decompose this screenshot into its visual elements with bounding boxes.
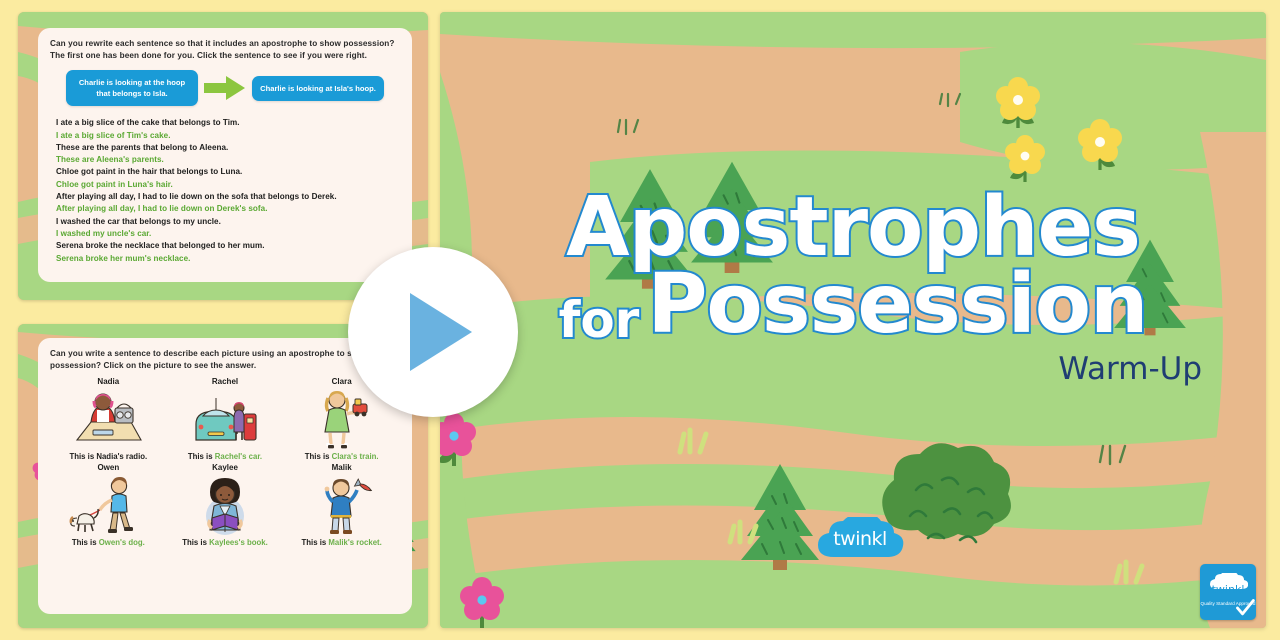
play-triangle-icon xyxy=(410,293,472,371)
twinkl-logo: twinkl xyxy=(814,517,906,563)
example-after-box[interactable]: Charlie is looking at Isla's hoop. xyxy=(252,76,384,101)
sentence-original[interactable]: I ate a big slice of the cake that belon… xyxy=(56,117,400,129)
right-arrow-icon xyxy=(204,75,246,101)
boy-walking-dog-icon[interactable] xyxy=(69,474,147,536)
item-caption: This is Rachel's car. xyxy=(188,452,262,461)
quality-approved-badge: twinkl Quality Standard Approved xyxy=(1200,564,1256,620)
girl-with-train-icon[interactable] xyxy=(303,388,381,450)
car-at-petrol-pump-icon[interactable] xyxy=(186,388,264,450)
girl-with-radio-icon[interactable] xyxy=(69,388,147,450)
sentence-answer[interactable]: Chloe got paint in Luna's hair. xyxy=(56,179,400,191)
item-caption: This is Clara's train. xyxy=(305,452,379,461)
item-caption: This is Nadia's radio. xyxy=(69,452,147,461)
checkmark-icon xyxy=(1235,598,1255,618)
item-name: Nadia xyxy=(97,377,119,386)
play-button[interactable] xyxy=(348,247,518,417)
sentence-answer[interactable]: After playing all day, I had to lie down… xyxy=(56,203,400,215)
item-name: Malik xyxy=(332,463,352,472)
grid-item[interactable]: Kaylee xyxy=(167,463,284,547)
sentence-original[interactable]: After playing all day, I had to lie down… xyxy=(56,191,400,203)
grid-item[interactable]: Malik xyxy=(283,463,400,547)
boy-with-rocket-icon[interactable] xyxy=(303,474,381,536)
slide-2-question: Can you write a sentence to describe eac… xyxy=(50,348,400,371)
girl-with-book-icon[interactable] xyxy=(186,474,264,536)
sentence-original[interactable]: These are the parents that belong to Ale… xyxy=(56,142,400,154)
title-slide-panel[interactable]: Apostrophes for Possession Warm-Up twink… xyxy=(440,12,1266,628)
slide-1-content-card: Can you rewrite each sentence so that it… xyxy=(38,28,412,282)
sentence-list: I ate a big slice of the cake that belon… xyxy=(50,117,400,265)
grid-item[interactable]: Owen xyxy=(50,463,167,547)
picture-grid: Nadia xyxy=(50,377,400,547)
powerpoint-preview-page: Can you rewrite each sentence so that it… xyxy=(0,0,1280,640)
sentence-answer[interactable]: These are Aleena's parents. xyxy=(56,154,400,166)
twinkl-logo-text: twinkl xyxy=(814,517,906,563)
item-caption: This is Kaylees's book. xyxy=(182,538,268,547)
sentence-answer[interactable]: I washed my uncle's car. xyxy=(56,228,400,240)
slide-2-content-card: Can you write a sentence to describe eac… xyxy=(38,338,412,614)
item-name: Rachel xyxy=(212,377,238,386)
item-caption: This is Malik's rocket. xyxy=(302,538,382,547)
example-before-box[interactable]: Charlie is looking at the hoop that belo… xyxy=(66,70,198,106)
item-caption: This is Owen's dog. xyxy=(72,538,145,547)
slide-1-question: Can you rewrite each sentence so that it… xyxy=(50,38,400,61)
sentence-original[interactable]: Serena broke the necklace that belonged … xyxy=(56,240,400,252)
sentence-original[interactable]: Chloe got paint in the hair that belongs… xyxy=(56,166,400,178)
sentence-answer[interactable]: I ate a big slice of Tim's cake. xyxy=(56,130,400,142)
badge-text: twinkl xyxy=(1212,583,1245,596)
grid-item[interactable]: Nadia xyxy=(50,377,167,461)
item-name: Clara xyxy=(332,377,352,386)
item-name: Owen xyxy=(97,463,119,472)
sentence-answer[interactable]: Serena broke her mum's necklace. xyxy=(56,253,400,265)
sentence-original[interactable]: I washed the car that belongs to my uncl… xyxy=(56,216,400,228)
slide-thumbnail-1[interactable]: Can you rewrite each sentence so that it… xyxy=(18,12,428,300)
grid-item[interactable]: Rachel xyxy=(167,377,284,461)
item-name: Kaylee xyxy=(212,463,238,472)
worked-example-row: Charlie is looking at the hoop that belo… xyxy=(50,70,400,106)
